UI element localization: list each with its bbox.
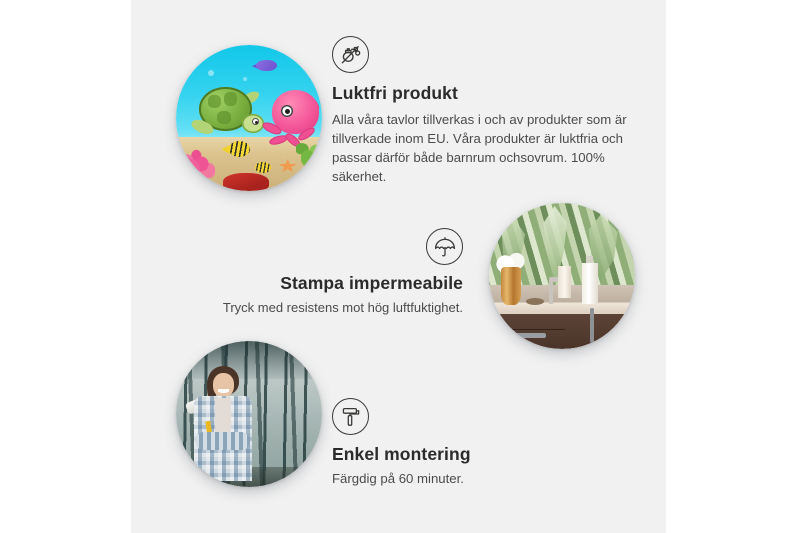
feature-odorless: Luktfri produkt Alla våra tavlor tillver… — [332, 36, 628, 186]
feature-title: Stampa impermeabile — [180, 273, 463, 294]
bathroom-tropical-wallpaper-circle-image — [489, 203, 635, 349]
inner-top — [215, 398, 231, 435]
feature-body: Tryck med resistens mot hög luftfuktighe… — [180, 298, 463, 317]
feature-title: Enkel montering — [332, 444, 582, 465]
forest-portrait-scene — [176, 341, 322, 487]
bubble-shape — [243, 77, 247, 81]
green-seaweed — [296, 136, 322, 168]
smile — [218, 389, 228, 393]
yellow-striped-fish — [255, 162, 271, 174]
soap-dish — [526, 298, 545, 305]
red-crab — [223, 173, 270, 191]
underwater-scene — [176, 45, 322, 191]
turtle-shell-segment — [217, 111, 232, 124]
octopus-pupil — [285, 109, 290, 114]
purple-fish — [256, 60, 276, 72]
feature-easy-mounting: Enkel montering Färgdig på 60 minuter. — [332, 398, 582, 488]
yellow-striped-fish — [229, 141, 251, 157]
woman-paint-roller-forest-circle-image — [176, 341, 322, 487]
bubble-shape — [208, 70, 214, 76]
feature-waterproof: Stampa impermeabile Tryck med resistens … — [180, 228, 463, 317]
no-odor-spray-bottle-icon — [332, 36, 369, 73]
bathroom-scene — [489, 203, 635, 349]
forest-canopy — [176, 341, 322, 379]
pink-coral — [179, 141, 216, 178]
feature-title: Luktfri produkt — [332, 83, 628, 104]
umbrella-icon — [426, 228, 463, 265]
paint-roller-icon — [332, 398, 369, 435]
toiletry-bottle — [582, 263, 598, 304]
drawer-seam — [498, 329, 565, 330]
soap-dispenser — [558, 266, 571, 298]
face — [213, 373, 235, 398]
drawer-handle — [508, 333, 546, 338]
turtle-shell-segment — [208, 95, 221, 108]
screenshot-stage: Luktfri produkt Alla våra tavlor tillver… — [0, 0, 800, 533]
starfish — [278, 159, 297, 174]
feature-body: Alla våra tavlor tillverkas i och av pro… — [332, 110, 628, 186]
cabinet-handle — [590, 308, 594, 343]
faucet — [549, 279, 553, 304]
underwater-cartoon-circle-image — [176, 45, 322, 191]
brass-vase — [501, 267, 521, 305]
crossed-arms — [195, 432, 250, 451]
turtle-shell-segment — [224, 92, 237, 107]
feature-body: Färgdig på 60 minuter. — [332, 469, 582, 488]
